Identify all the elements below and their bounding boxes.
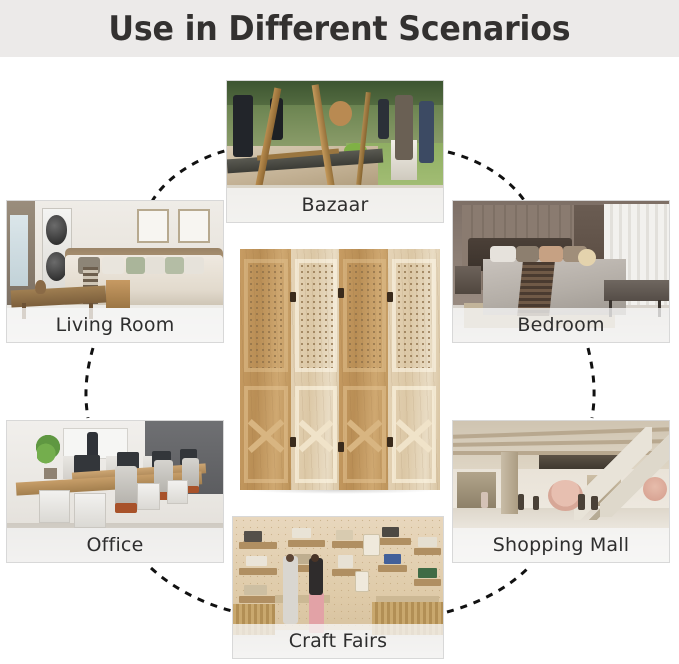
pegboard-panel-1 — [244, 259, 288, 372]
scenario-card-office[interactable]: Office — [6, 420, 224, 563]
scenario-card-living-room[interactable]: Living Room — [6, 200, 224, 343]
hinge-icon — [387, 292, 393, 302]
hinge-icon — [290, 437, 296, 447]
scenario-label-shopping-mall: Shopping Mall — [453, 528, 669, 562]
scenario-card-craft-fairs[interactable]: Craft Fairs — [232, 516, 444, 659]
barn-panel-4 — [392, 386, 436, 482]
divider-panel-2 — [291, 249, 341, 490]
pegboard-panel-3 — [343, 259, 386, 372]
infographic-page: Use in Different Scenarios — [0, 0, 679, 664]
hinge-icon — [338, 288, 344, 298]
scenario-label-office: Office — [7, 528, 223, 562]
scenario-card-shopping-mall[interactable]: Shopping Mall — [452, 420, 670, 563]
scenario-card-bedroom[interactable]: Bedroom — [452, 200, 670, 343]
divider-panel-1 — [240, 249, 292, 490]
scenario-label-bedroom: Bedroom — [453, 308, 669, 342]
scenario-label-bazaar: Bazaar — [227, 188, 443, 222]
divider-panel-4 — [388, 249, 440, 490]
connector-craft-to-mall — [447, 568, 528, 612]
scenario-label-living-room: Living Room — [7, 308, 223, 342]
barn-panel-1 — [244, 386, 288, 482]
connector-living-to-office — [86, 348, 93, 418]
hinge-icon — [290, 292, 296, 302]
pegboard-panel-4 — [392, 259, 436, 372]
hinge-icon — [387, 437, 393, 447]
hinge-icon — [338, 442, 344, 452]
barn-panel-3 — [343, 386, 386, 482]
product-room-divider — [240, 249, 440, 490]
header-band: Use in Different Scenarios — [0, 0, 679, 57]
scenario-label-craft-fairs: Craft Fairs — [233, 624, 443, 658]
connector-bedroom-to-mall — [588, 348, 594, 418]
scenario-card-bazaar[interactable]: Bazaar — [226, 80, 444, 223]
page-title: Use in Different Scenarios — [109, 9, 571, 49]
barn-panel-2 — [295, 386, 337, 482]
pegboard-panel-2 — [295, 259, 337, 372]
connector-office-to-craft — [151, 568, 232, 611]
divider-panel-3 — [339, 249, 390, 490]
